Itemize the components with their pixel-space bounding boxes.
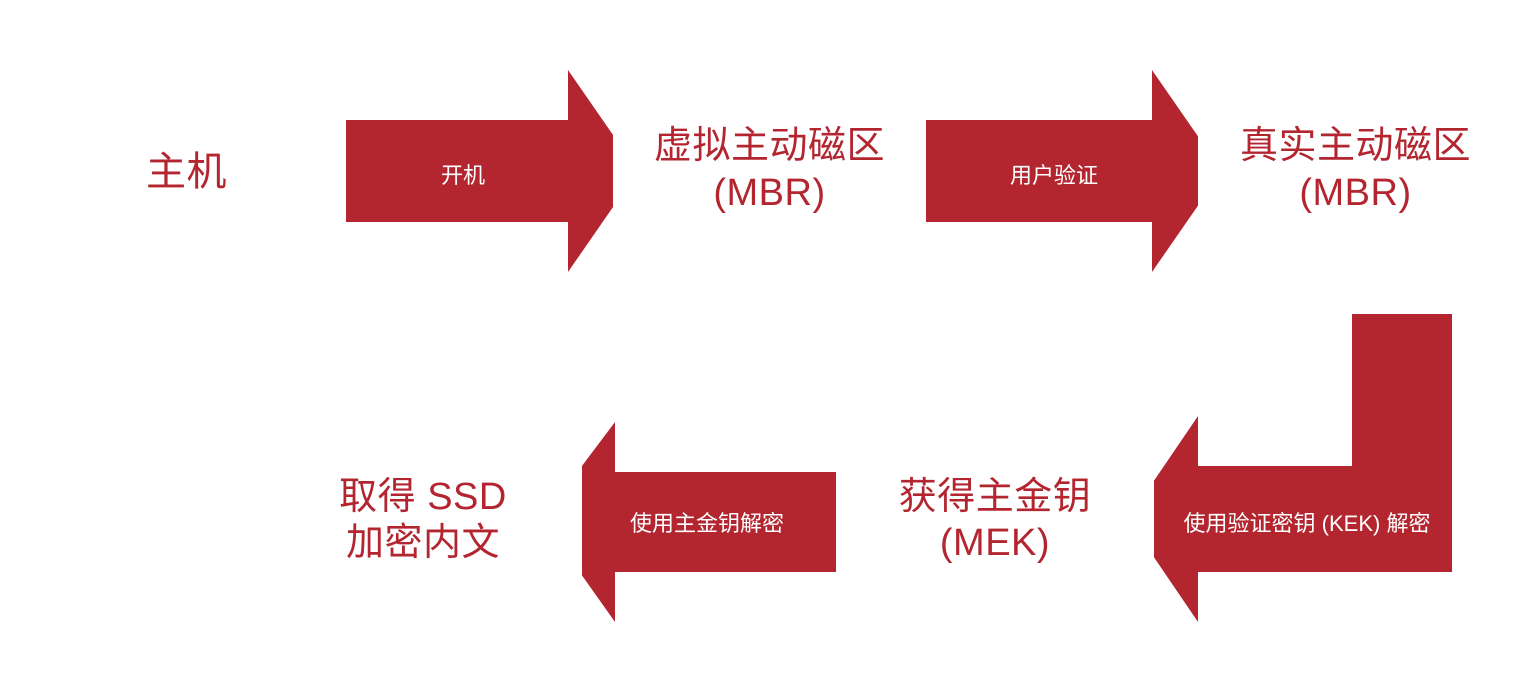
user-auth-arrow-shape — [926, 70, 1222, 272]
mek-decrypt-arrow-shape — [542, 422, 836, 622]
mek-node[interactable]: 获得主金钥 (MEK) — [836, 372, 1154, 668]
ssd-ciphertext-node[interactable]: 取得 SSD 加密内文 — [264, 372, 582, 668]
boot-arrow-shape — [346, 70, 638, 272]
real-mbr-node-label: 真实主动磁区 (MBR) — [1240, 123, 1471, 216]
virtual-mbr-node[interactable]: 虚拟主动磁区 (MBR) — [613, 25, 926, 314]
virtual-mbr-node-label: 虚拟主动磁区 (MBR) — [654, 123, 885, 216]
mek-node-label: 获得主金钥 (MEK) — [899, 474, 1092, 567]
flow-diagram: 主机 虚拟主动磁区 (MBR) 真实主动磁区 (MBR) 取得 SSD 加密内文… — [0, 0, 1536, 696]
real-mbr-node[interactable]: 真实主动磁区 (MBR) — [1198, 25, 1513, 314]
host-node-label: 主机 — [146, 148, 227, 197]
host-node[interactable]: 主机 — [27, 25, 346, 319]
ssd-ciphertext-node-label: 取得 SSD 加密内文 — [339, 474, 507, 567]
kek-decrypt-arrow-path — [1128, 313, 1452, 622]
